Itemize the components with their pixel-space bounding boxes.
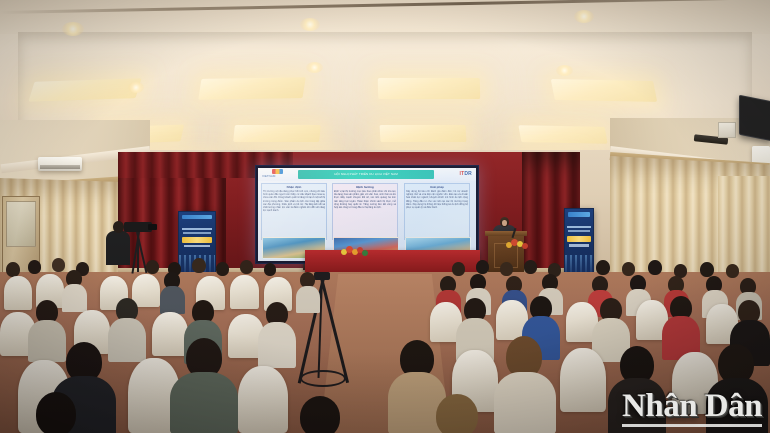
person-head — [726, 264, 739, 278]
person-head — [476, 260, 489, 274]
ceiling-light-panel — [380, 125, 467, 142]
rollup-text-line — [182, 228, 212, 230]
table-flower-arrangement — [339, 245, 369, 257]
ceiling-light-panel — [378, 78, 480, 99]
recessed-downlight — [574, 10, 594, 23]
slide-logo-right: ITDR — [460, 171, 472, 177]
podium-flower-arrangement — [506, 239, 528, 249]
recessed-downlight — [62, 22, 84, 36]
person-head — [240, 260, 253, 274]
rollup-header-bar — [182, 215, 212, 219]
person-head — [300, 396, 340, 433]
slide-column-3-body: Xây dựng bộ tiêu chí đánh giá điểm đến; … — [406, 190, 468, 209]
chair — [4, 276, 32, 310]
wall-equipment-box — [718, 122, 736, 138]
person-head — [192, 258, 206, 273]
slide-column-3: Giải pháp Xây dựng bộ tiêu chí đánh giá … — [404, 183, 470, 240]
door-glass — [6, 201, 36, 247]
person-head — [524, 260, 537, 274]
person-body — [62, 284, 87, 312]
ceiling-light-panel — [551, 79, 657, 102]
rollup-text-line — [184, 245, 210, 247]
ceiling-light-panel — [233, 125, 321, 142]
person-head — [28, 260, 41, 274]
person-head — [452, 262, 465, 276]
flower — [362, 250, 368, 256]
chair — [230, 275, 259, 309]
ceiling-light-panel — [28, 78, 141, 102]
conference-hall-photo: VIETNAM HỘI NGHỊ PHÁT TRIỂN DU LỊCH VIỆT… — [0, 0, 770, 433]
person-head — [146, 260, 159, 274]
slide-column-2-body: Định vị lại thị trường mục tiêu theo phâ… — [334, 190, 396, 209]
person-head — [216, 262, 229, 276]
person-body — [28, 320, 66, 362]
person-head — [700, 262, 714, 277]
chair — [152, 312, 188, 356]
person-body — [160, 286, 185, 314]
person-body — [108, 318, 146, 362]
rollup-text-line — [567, 226, 591, 228]
rollup-headline-bar — [567, 236, 591, 242]
chair — [132, 274, 160, 307]
person-body — [296, 286, 320, 313]
recessed-downlight — [556, 65, 573, 76]
slide-column-2: Định hướng Định vị lại thị trường mục ti… — [332, 183, 398, 240]
slide-column-1-heading: Nhận định — [263, 185, 325, 189]
podium-top — [485, 231, 527, 236]
rollup-headline-bar — [182, 237, 213, 243]
slide-column-3-heading: Giải pháp — [406, 185, 468, 189]
ceiling-light-panel — [518, 125, 607, 144]
speaker-face — [502, 220, 507, 226]
camera-lens — [148, 224, 157, 230]
person-head — [264, 263, 276, 276]
watermark: Nhân Dân — [622, 390, 762, 427]
rollup-banner-right — [564, 208, 594, 276]
person-head — [52, 258, 65, 272]
rollup-text-line — [569, 244, 589, 247]
person-body — [258, 322, 296, 368]
person-body — [494, 372, 556, 433]
slide-column-1: Nhận định Thị trường nội địa đang phục h… — [261, 183, 327, 240]
person-body — [170, 372, 238, 433]
chair — [238, 366, 288, 433]
air-conditioner-left — [38, 157, 82, 171]
person-head — [436, 394, 478, 433]
tripod-leg — [137, 232, 139, 272]
wall-monitor-right — [739, 95, 770, 141]
recessed-downlight — [300, 18, 320, 31]
person-head — [500, 262, 513, 276]
person-head — [622, 262, 635, 276]
person-head — [596, 260, 610, 275]
rollup-text-line — [183, 232, 210, 234]
slide-logo-left-text: VIETNAM — [262, 174, 275, 178]
recessed-downlight — [128, 82, 144, 93]
chair — [560, 348, 606, 412]
ceiling-light-panel — [198, 77, 306, 100]
slide-title-banner: HỘI NGHỊ PHÁT TRIỂN DU LỊCH VIỆT NAM — [298, 170, 434, 179]
rollup-text-line — [568, 230, 589, 232]
ac-vent — [40, 165, 80, 169]
rollup-header-bar — [568, 212, 591, 217]
cable-coil — [300, 370, 346, 387]
person-head — [6, 262, 20, 277]
slide-column-2-heading: Định hướng — [334, 185, 396, 189]
cameraman-head — [113, 221, 124, 233]
person-head — [36, 392, 76, 433]
recessed-downlight — [306, 62, 323, 73]
slide-logo-left: VIETNAM — [262, 169, 292, 180]
flower — [522, 243, 528, 249]
tripod-leg — [320, 278, 349, 384]
slide-column-1-body: Thị trường nội địa đang phục hồi tích cự… — [263, 190, 325, 213]
person-head — [648, 260, 662, 275]
itdr-logo-rest: DR — [464, 171, 472, 177]
